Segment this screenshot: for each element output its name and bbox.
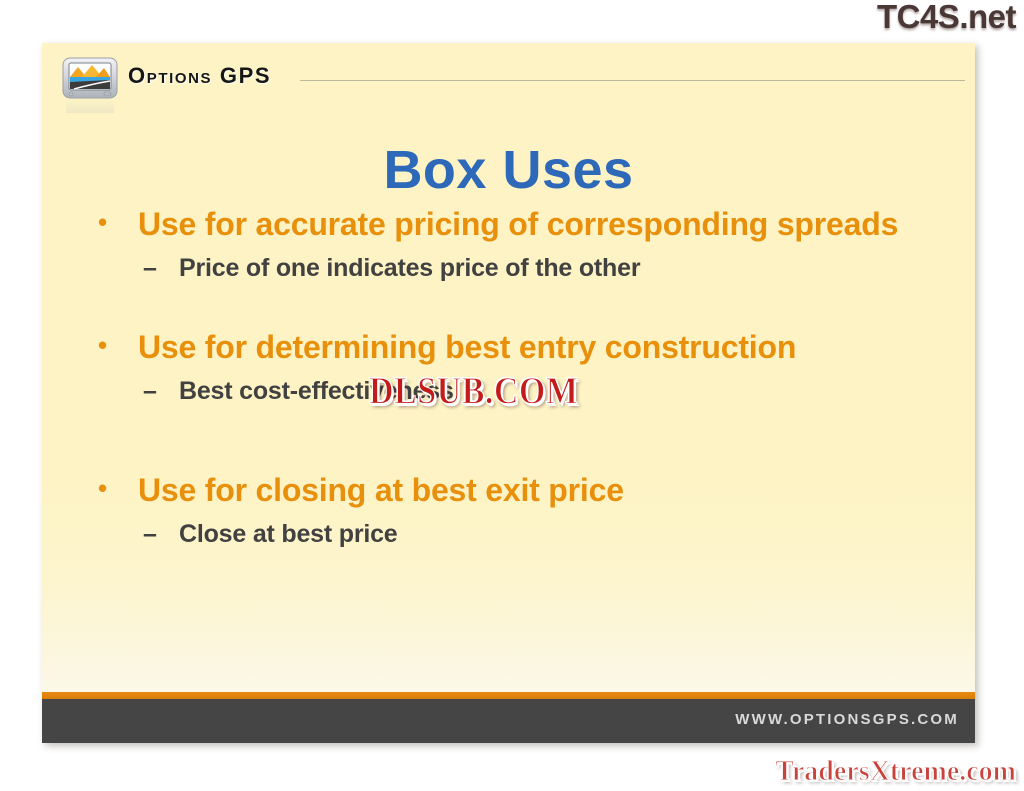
gps-device-icon [62, 57, 118, 99]
footer-website-url: WWW.OPTIONSGPS.COM [735, 711, 959, 728]
bullet-item-3: • Use for closing at best exit price [98, 469, 945, 512]
slide-footer: WWW.OPTIONSGPS.COM [42, 699, 975, 743]
bullet-text: Use for accurate pricing of correspondin… [138, 203, 945, 246]
dash-marker-icon: – [143, 252, 179, 286]
bullet-item-1: • Use for accurate pricing of correspond… [98, 203, 945, 246]
sub-bullet-text: Price of one indicates price of the othe… [179, 252, 945, 286]
header-divider [300, 80, 965, 81]
bullet-marker-icon: • [98, 469, 138, 508]
slide-title: Box Uses [42, 139, 975, 201]
slide-header: Options GPS [42, 43, 975, 105]
bullet-item-2: • Use for determining best entry constru… [98, 326, 945, 369]
bullet-text: Use for closing at best exit price [138, 469, 945, 512]
sub-bullet-text: Close at best price [179, 518, 945, 552]
dash-marker-icon: – [143, 518, 179, 552]
logo-reflection [66, 99, 114, 113]
bullet-marker-icon: • [98, 203, 138, 242]
dash-marker-icon: – [143, 375, 179, 409]
logo-wordmark: Options GPS [128, 63, 271, 89]
footer-accent-line [42, 692, 975, 699]
sub-bullet-item-3: – Close at best price [143, 518, 945, 552]
site-brand-bottom: TradersXtreme.com [775, 756, 1016, 788]
dlsub-watermark: DLSUB.COM [369, 370, 578, 414]
sub-bullet-item-1: – Price of one indicates price of the ot… [143, 252, 945, 286]
bullet-marker-icon: • [98, 326, 138, 365]
spacer [98, 286, 945, 326]
spacer [98, 449, 945, 469]
site-brand-top: TC4S.net [877, 0, 1016, 36]
presentation-slide: Options GPS Box Uses • Use for accurate … [42, 43, 975, 743]
bullet-text: Use for determining best entry construct… [138, 326, 945, 369]
spacer [98, 409, 945, 449]
